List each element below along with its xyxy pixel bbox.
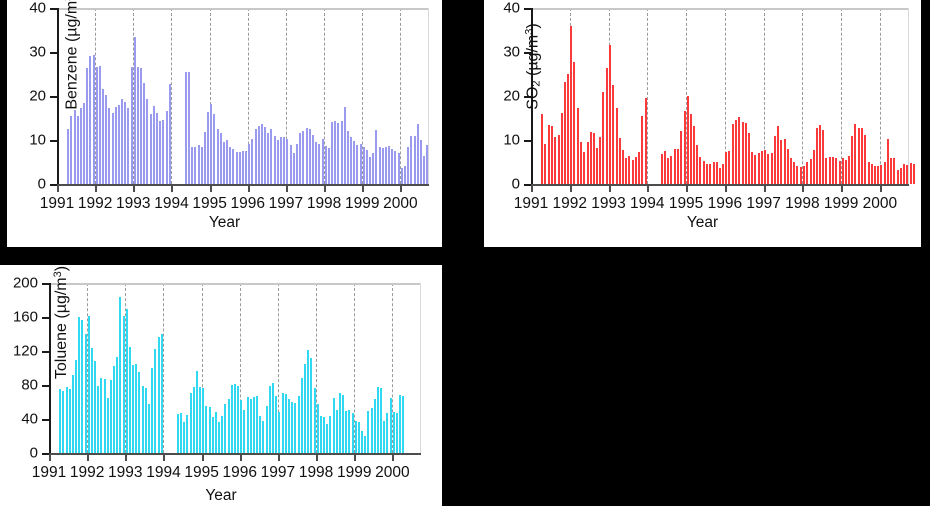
bar	[842, 158, 844, 184]
bar	[298, 396, 300, 453]
bar	[267, 133, 269, 184]
bar	[250, 399, 252, 453]
y-axis-title-exponent: 3	[52, 272, 64, 278]
bar	[146, 99, 148, 184]
bar	[609, 45, 611, 184]
bar	[226, 140, 228, 184]
bar	[274, 136, 276, 184]
y-axis-title-subscript: 2	[530, 80, 542, 86]
bar	[251, 139, 253, 184]
y-axis-tick	[42, 317, 49, 319]
bar	[583, 152, 585, 184]
bar	[728, 151, 730, 184]
bar	[385, 147, 387, 184]
bar	[288, 399, 290, 453]
bar	[196, 371, 198, 453]
bar	[239, 152, 241, 184]
bar	[767, 154, 769, 184]
bar	[304, 364, 306, 453]
bar	[296, 144, 298, 184]
bar	[342, 395, 344, 453]
bar	[761, 151, 763, 184]
bar	[212, 417, 214, 453]
bar	[748, 133, 750, 184]
x-axis-tick-label: 1991	[514, 195, 548, 213]
bar	[191, 147, 193, 184]
bar	[83, 103, 85, 184]
bar	[290, 145, 292, 184]
x-axis-tick-label: 1994	[154, 195, 188, 213]
bar	[619, 138, 621, 184]
y-axis-tick-label: 40	[29, 0, 46, 17]
bar	[754, 155, 756, 184]
bar	[91, 348, 93, 453]
bar	[890, 158, 892, 184]
bar	[903, 164, 905, 184]
bar	[124, 102, 126, 184]
y-axis-title-exponent: 3	[62, 0, 74, 1]
bar	[699, 157, 701, 184]
x-axis-tick-label: 1994	[146, 464, 180, 482]
x-axis-tick-label: 1999	[345, 195, 379, 213]
x-axis-tick	[202, 455, 204, 461]
x-axis-tick	[841, 186, 843, 192]
bar	[209, 407, 211, 453]
y-axis-tick-label: 30	[29, 44, 46, 61]
bar	[331, 122, 333, 184]
bar	[323, 417, 325, 453]
bar	[337, 123, 339, 184]
bar	[318, 144, 320, 184]
bar	[322, 139, 324, 184]
y-axis-tick-label: 30	[503, 44, 520, 61]
gridline	[400, 8, 401, 184]
bar	[390, 398, 392, 453]
x-axis-title: Year	[484, 214, 921, 232]
x-axis-tick	[57, 186, 59, 192]
bar	[832, 157, 834, 184]
bar	[255, 129, 257, 184]
bar	[99, 66, 101, 184]
bar	[326, 424, 328, 453]
bar	[410, 136, 412, 184]
bar	[108, 108, 110, 184]
x-axis-tick	[95, 186, 97, 192]
bar	[570, 26, 572, 184]
gridline	[163, 283, 164, 453]
bar	[336, 410, 338, 453]
bar	[217, 129, 219, 184]
bar	[159, 121, 161, 184]
bar	[277, 140, 279, 184]
bar	[199, 387, 201, 453]
y-axis-title-exponent: 3	[523, 28, 535, 34]
bar	[69, 389, 71, 453]
x-axis-tick	[880, 186, 882, 192]
bar	[632, 160, 634, 184]
bar	[874, 166, 876, 184]
bar	[115, 107, 117, 184]
bar	[143, 83, 145, 184]
bar	[625, 158, 627, 184]
bar	[628, 156, 630, 184]
bar	[204, 132, 206, 184]
bar	[67, 129, 69, 184]
x-axis-tick-label: 1991	[32, 464, 66, 482]
x-axis-tick-label: 1992	[553, 195, 587, 213]
bar	[188, 72, 190, 184]
bar	[871, 164, 873, 184]
bar	[248, 144, 250, 184]
x-axis-title: Year	[0, 487, 442, 505]
x-axis-tick	[278, 455, 280, 461]
bar	[602, 92, 604, 184]
toluene-panel: 0408012016020019911992199319941995199619…	[0, 265, 442, 506]
bar	[732, 124, 734, 184]
bar	[156, 113, 158, 184]
so2-plot-area: 0102030401991199219931994199519961997199…	[531, 8, 909, 186]
bar	[687, 96, 689, 184]
x-axis-tick-label: 1995	[192, 195, 226, 213]
bar	[282, 393, 284, 453]
x-axis-tick-label: 1992	[78, 195, 112, 213]
bar	[193, 387, 195, 453]
y-axis-tick-label: 20	[503, 88, 520, 105]
so2-bars-layer	[531, 8, 909, 186]
bar	[166, 111, 168, 184]
y-axis-title: Benzene (µg/m3)	[62, 0, 81, 110]
gridline	[802, 8, 803, 184]
x-axis-tick	[324, 186, 326, 192]
bar	[183, 422, 185, 453]
x-axis-tick	[609, 186, 611, 192]
bar	[105, 95, 107, 184]
bar	[112, 113, 114, 184]
x-axis-title: Year	[7, 214, 442, 232]
bar	[800, 167, 802, 184]
y-axis-tick	[42, 351, 49, 353]
bar	[215, 412, 217, 453]
bar	[596, 148, 598, 184]
x-axis-tick	[171, 186, 173, 192]
toluene-bars-layer	[49, 283, 421, 455]
bar	[75, 360, 77, 454]
bar	[127, 108, 129, 184]
bar	[577, 108, 579, 184]
bar	[198, 145, 200, 184]
bar	[580, 142, 582, 184]
bar	[858, 128, 860, 184]
bar	[350, 137, 352, 184]
bar	[151, 368, 153, 453]
bar	[884, 162, 886, 184]
bar	[341, 121, 343, 184]
bar	[787, 149, 789, 184]
bar	[280, 137, 282, 184]
benzene-plot-area: 0102030401991199219931994199519961997199…	[57, 8, 429, 186]
bar	[367, 411, 369, 453]
bar	[810, 159, 812, 184]
bar	[396, 413, 398, 453]
bar	[123, 316, 125, 453]
bar	[283, 137, 285, 184]
axis-spine-right	[428, 8, 429, 186]
bar	[706, 164, 708, 184]
bar	[868, 162, 870, 184]
bar	[764, 150, 766, 184]
x-axis-tick-label: 2000	[863, 195, 897, 213]
x-axis-tick-label: 1998	[785, 195, 819, 213]
bar	[100, 378, 102, 453]
bar	[771, 153, 773, 184]
x-axis-tick-label: 1996	[708, 195, 742, 213]
bar	[243, 410, 245, 453]
bar	[194, 147, 196, 184]
y-axis-tick-label: 20	[29, 88, 46, 105]
x-axis-tick-label: 1999	[337, 464, 371, 482]
bar	[693, 126, 695, 184]
y-axis-tick	[524, 8, 531, 10]
bar	[253, 397, 255, 453]
bar	[864, 135, 866, 184]
bar	[684, 111, 686, 184]
gridline	[880, 8, 881, 184]
benzene-panel: 0102030401991199219931994199519961997199…	[7, 0, 442, 247]
bar	[231, 385, 233, 453]
bar	[913, 164, 915, 184]
bar	[242, 151, 244, 184]
bar	[312, 135, 314, 184]
bar	[806, 162, 808, 184]
bar	[261, 124, 263, 184]
bar	[224, 404, 226, 453]
x-axis-tick-label: 1994	[630, 195, 664, 213]
bar	[135, 364, 137, 453]
bar	[234, 384, 236, 453]
bar	[220, 133, 222, 184]
bar	[887, 139, 889, 184]
bar	[213, 114, 215, 184]
bar	[286, 139, 288, 184]
bar	[180, 413, 182, 453]
bar	[622, 150, 624, 184]
bar	[223, 142, 225, 184]
bar	[88, 316, 90, 453]
bar	[877, 166, 879, 184]
bar	[793, 162, 795, 184]
y-axis-title-text: Toluene (µg/m	[53, 278, 70, 380]
y-axis-tick	[524, 184, 531, 186]
bar	[551, 126, 553, 184]
bar	[541, 114, 543, 184]
bar	[153, 106, 155, 184]
bar	[137, 67, 139, 184]
bar	[664, 151, 666, 184]
bar	[328, 148, 330, 184]
bar	[66, 387, 68, 453]
bar	[372, 153, 374, 184]
bar	[364, 436, 366, 453]
bar	[593, 133, 595, 184]
bar	[333, 398, 335, 453]
bar	[240, 400, 242, 453]
bar	[259, 416, 261, 453]
bar	[363, 147, 365, 184]
bar	[758, 153, 760, 184]
bar	[310, 358, 312, 453]
bar	[713, 162, 715, 184]
bar	[845, 160, 847, 184]
bar	[74, 110, 76, 184]
bar	[377, 387, 379, 453]
bar	[813, 150, 815, 184]
y-axis-title-text: Benzene (µg/m	[63, 1, 80, 110]
bar	[177, 414, 179, 453]
bar	[839, 161, 841, 184]
x-axis-tick	[210, 186, 212, 192]
bar	[232, 149, 234, 184]
bar	[186, 415, 188, 453]
y-axis-title-tail: )	[53, 266, 70, 271]
bar	[317, 404, 319, 453]
bar	[361, 431, 363, 453]
bar	[722, 164, 724, 184]
bar	[113, 366, 115, 453]
x-axis-tick-label: 1997	[269, 195, 303, 213]
bar	[207, 112, 209, 184]
bar	[78, 317, 80, 453]
bar	[606, 68, 608, 184]
bar	[205, 406, 207, 453]
bar	[777, 126, 779, 184]
y-axis-tick-label: 0	[30, 445, 38, 462]
bar	[236, 152, 238, 184]
bar	[420, 140, 422, 184]
bar	[641, 116, 643, 184]
bar	[119, 297, 121, 453]
bar	[803, 166, 805, 184]
bar	[725, 152, 727, 184]
bar	[667, 158, 669, 184]
axis-spine-bottom	[49, 453, 421, 455]
bar	[407, 147, 409, 184]
bar	[293, 153, 295, 184]
bar	[391, 149, 393, 184]
bar	[353, 141, 355, 184]
axis-spine-right	[908, 8, 909, 186]
x-axis-tick	[725, 186, 727, 192]
x-axis-tick	[87, 455, 89, 461]
bar	[751, 152, 753, 184]
bar	[118, 105, 120, 184]
x-axis-tick	[354, 455, 356, 461]
bar	[854, 124, 856, 184]
bar	[129, 347, 131, 453]
bar	[148, 404, 150, 453]
x-axis-tick-label: 1991	[40, 195, 74, 213]
x-axis-tick	[163, 455, 165, 461]
bar	[72, 375, 74, 453]
bar	[819, 125, 821, 184]
y-axis-tick-label: 160	[13, 309, 38, 326]
bar	[77, 116, 79, 184]
bar	[190, 393, 192, 453]
x-axis-tick-label: 1992	[70, 464, 104, 482]
bar	[80, 108, 82, 184]
bar	[104, 379, 106, 453]
gridline	[171, 8, 172, 184]
bar	[218, 422, 220, 453]
bar	[399, 395, 401, 453]
axis-spine-left	[49, 283, 51, 455]
bar	[285, 394, 287, 454]
bar	[116, 357, 118, 453]
x-axis-tick	[248, 186, 250, 192]
bar	[272, 383, 274, 453]
bar	[548, 125, 550, 184]
bar	[269, 386, 271, 453]
bar	[567, 74, 569, 184]
bar	[256, 396, 258, 453]
x-axis-tick	[286, 186, 288, 192]
bar	[558, 135, 560, 184]
bar	[237, 386, 239, 453]
bar	[790, 158, 792, 184]
bar	[89, 56, 91, 184]
bar	[573, 62, 575, 184]
axis-spine-left	[57, 8, 59, 186]
bar	[674, 149, 676, 184]
so2-panel: 0102030401991199219931994199519961997199…	[484, 0, 921, 247]
x-axis-tick	[362, 186, 364, 192]
x-axis-tick-label: 1998	[307, 195, 341, 213]
bar	[85, 334, 87, 453]
bar	[386, 413, 388, 453]
bar	[162, 120, 164, 184]
bar	[383, 421, 385, 453]
gridline	[647, 8, 648, 184]
x-axis-tick	[802, 186, 804, 192]
bar	[294, 403, 296, 453]
bar	[612, 85, 614, 184]
bar	[897, 170, 899, 184]
bar	[382, 148, 384, 184]
bar	[851, 136, 853, 184]
bar	[677, 149, 679, 184]
y-axis-tick-label: 120	[13, 343, 38, 360]
bar	[70, 116, 72, 184]
bar	[638, 152, 640, 184]
bar	[670, 156, 672, 184]
bar	[302, 131, 304, 184]
bar	[796, 166, 798, 184]
bar	[228, 399, 230, 453]
bar	[145, 388, 147, 453]
bar	[829, 157, 831, 184]
bar	[861, 128, 863, 184]
bar	[780, 140, 782, 184]
bar	[401, 168, 403, 184]
bar	[348, 410, 350, 453]
bar	[825, 158, 827, 184]
bar	[138, 372, 140, 453]
bar	[394, 151, 396, 184]
bar	[402, 396, 404, 453]
bar	[314, 388, 316, 453]
bar	[355, 421, 357, 453]
x-axis-tick-label: 2000	[375, 464, 409, 482]
axis-spine-bottom	[57, 184, 429, 186]
